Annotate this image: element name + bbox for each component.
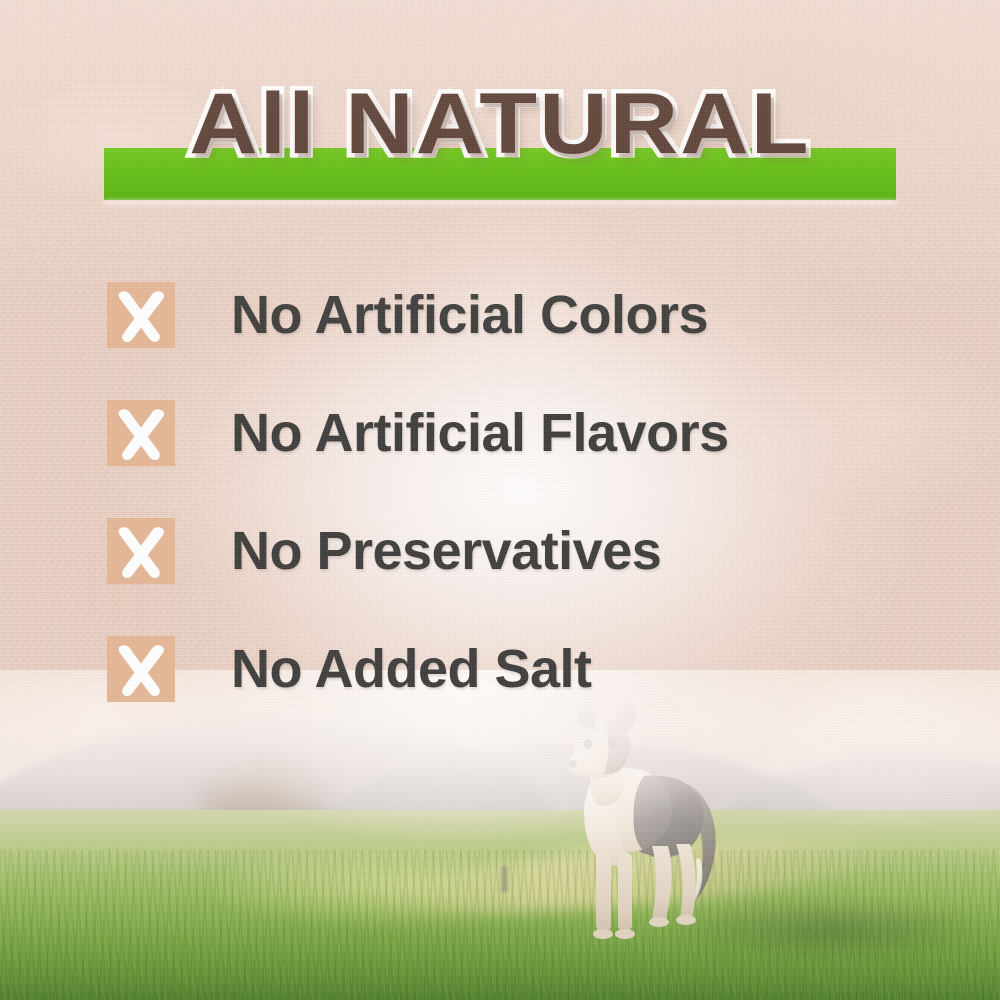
claim-label: No Artificial Flavors (231, 404, 729, 462)
headline-banner: All NATURAL (0, 62, 1000, 202)
border-collie-dog (540, 688, 730, 958)
claim-label: No Preservatives (231, 522, 661, 580)
fence-post (501, 866, 508, 892)
claim-row: No Preservatives (107, 492, 907, 610)
x-mark-icon (107, 400, 175, 466)
headline-text: All NATURAL (0, 76, 1000, 172)
claims-list: No Artificial Colors No Artificial Flavo… (107, 256, 907, 728)
product-feature-poster: All NATURAL No Artificial Colors No Arti… (0, 0, 1000, 1000)
claim-row: No Artificial Colors (107, 256, 907, 374)
claim-label: No Added Salt (231, 640, 592, 698)
claim-row: No Artificial Flavors (107, 374, 907, 492)
claim-row: No Added Salt (107, 610, 907, 728)
x-mark-icon (107, 636, 175, 702)
x-mark-icon (107, 518, 175, 584)
x-mark-icon (107, 282, 175, 348)
claim-label: No Artificial Colors (231, 286, 708, 344)
